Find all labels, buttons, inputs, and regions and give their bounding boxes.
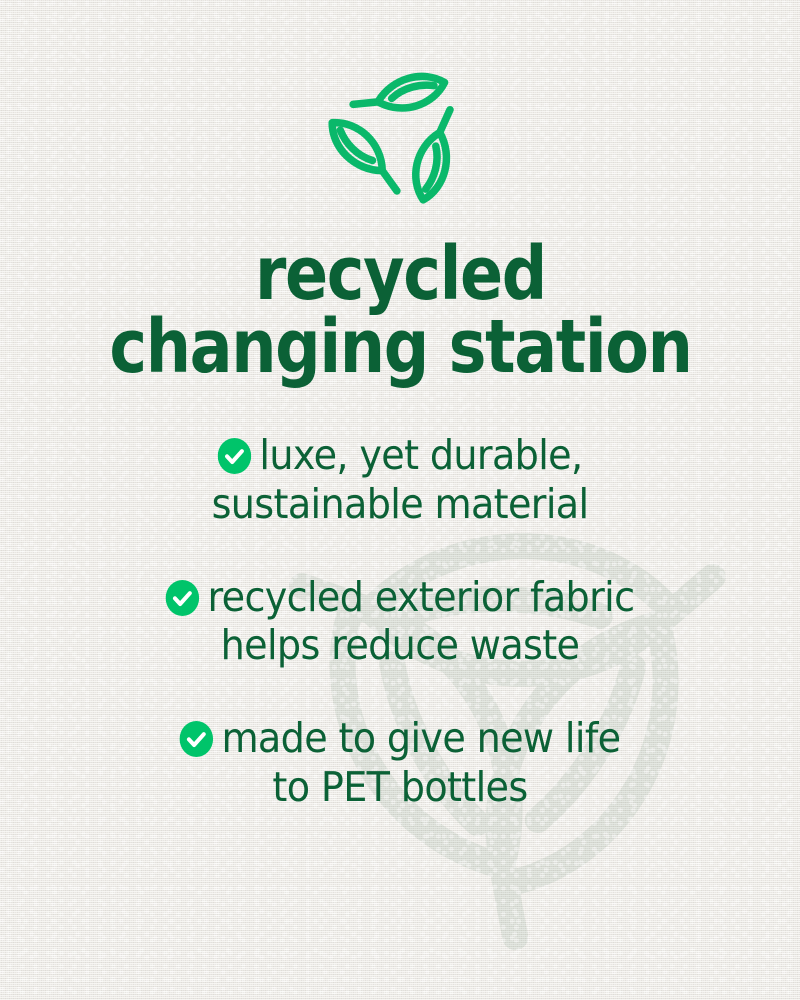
bullet-line-2: helps reduce waste bbox=[28, 621, 772, 670]
bullet-first-row: recycled exterior fabric bbox=[28, 573, 772, 622]
list-item: recycled exterior fabric helps reduce wa… bbox=[28, 573, 772, 671]
headline-line-1: recycled bbox=[109, 238, 691, 311]
check-circle-icon bbox=[166, 580, 199, 616]
bullet-first-row: luxe, yet durable, bbox=[28, 431, 772, 480]
feature-list: luxe, yet durable, sustainable material … bbox=[0, 431, 800, 812]
check-circle-icon bbox=[218, 438, 251, 474]
bullet-line-1: made to give new life bbox=[221, 714, 620, 762]
list-item: luxe, yet durable, sustainable material bbox=[28, 431, 772, 529]
list-item: made to give new life to PET bottles bbox=[28, 714, 772, 812]
page-title: recycled changing station bbox=[92, 238, 709, 383]
bullet-line-1: luxe, yet durable, bbox=[259, 431, 582, 479]
bullet-line-1: recycled exterior fabric bbox=[207, 573, 634, 621]
bullet-line-2: to PET bottles bbox=[28, 763, 772, 812]
headline-line-2: changing station bbox=[109, 311, 691, 384]
bullet-line-2: sustainable material bbox=[28, 480, 772, 529]
card-content: recycled changing station luxe, yet dura… bbox=[0, 0, 800, 1000]
bullet-first-row: made to give new life bbox=[28, 714, 772, 763]
recycling-leaves-icon bbox=[318, 62, 482, 208]
promo-card: recycled changing station luxe, yet dura… bbox=[0, 0, 800, 1000]
check-circle-icon bbox=[180, 721, 213, 757]
